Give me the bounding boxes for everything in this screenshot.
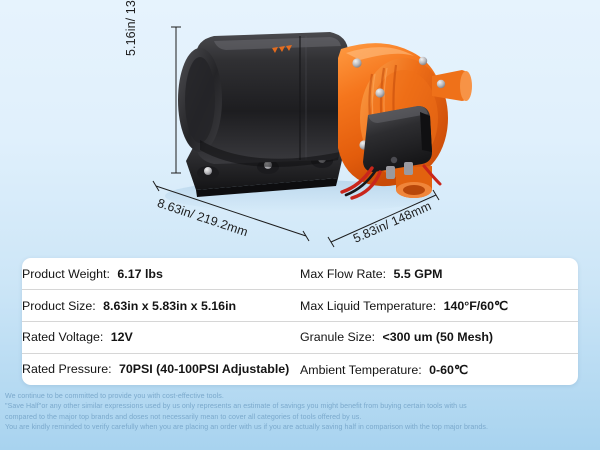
spec-cell-rated-pressure: Rated Pressure: 70PSI (40-100PSI Adjusta… xyxy=(22,353,300,385)
spec-value: <300 um (50 Mesh) xyxy=(383,330,494,344)
table-row: Product Weight: 6.17 lbs Max Flow Rate: … xyxy=(22,258,578,290)
product-illustration: 5.16in/ 131mm 8.63in/ 219.2mm 5.83in/ 14… xyxy=(0,0,600,258)
table-row: Product Size: 8.63in x 5.83in x 5.16in M… xyxy=(22,290,578,322)
table-row: Rated Voltage: 12V Granule Size: <300 um… xyxy=(22,322,578,354)
spec-label: Max Liquid Temperature: xyxy=(300,299,436,313)
spec-label: Ambient Temperature: xyxy=(300,363,422,377)
spec-label: Rated Voltage: xyxy=(22,330,103,344)
spec-label: Product Weight: xyxy=(22,267,110,281)
spec-cell-product-weight: Product Weight: 6.17 lbs xyxy=(22,258,300,290)
disclaimer-line-2: "Save Half"or any other similar expressi… xyxy=(5,401,597,411)
spec-cell-max-liquid-temperature: Max Liquid Temperature: 140°F/60℃ xyxy=(300,290,578,322)
spec-value: 0-60℃ xyxy=(429,363,468,377)
spec-cell-max-flow-rate: Max Flow Rate: 5.5 GPM xyxy=(300,258,578,290)
spec-label: Max Flow Rate: xyxy=(300,267,386,281)
spec-label: Rated Pressure: xyxy=(22,362,112,376)
head-screw xyxy=(375,88,384,97)
head-screw xyxy=(437,80,445,88)
head-screw xyxy=(419,57,427,65)
spec-cell-product-size: Product Size: 8.63in x 5.83in x 5.16in xyxy=(22,290,300,322)
pump-motor-body xyxy=(178,32,348,167)
spec-cell-granule-size: Granule Size: <300 um (50 Mesh) xyxy=(300,322,578,354)
spec-cell-rated-voltage: Rated Voltage: 12V xyxy=(22,322,300,354)
disclaimer-line-1: We continue to be committed to provide y… xyxy=(5,391,597,401)
pump-image xyxy=(0,0,600,258)
specification-card: Product Weight: 6.17 lbs Max Flow Rate: … xyxy=(22,258,578,385)
spec-value: 12V xyxy=(111,330,133,344)
pressure-switch-cover xyxy=(363,106,432,172)
spec-value: 70PSI (40-100PSI Adjustable) xyxy=(119,362,289,376)
disclaimer-line-4: You are kindly reminded to verify carefu… xyxy=(5,422,597,432)
spec-cell-ambient-temperature: Ambient Temperature: 0-60℃ xyxy=(300,353,578,385)
spec-value: 6.17 lbs xyxy=(117,267,162,281)
spec-label: Granule Size: xyxy=(300,330,375,344)
disclaimer-line-3: compared to the major top brands and dos… xyxy=(5,412,597,422)
disclaimer-text: We continue to be committed to provide y… xyxy=(5,391,597,433)
spec-value: 140°F/60℃ xyxy=(444,299,508,313)
table-row: Rated Pressure: 70PSI (40-100PSI Adjusta… xyxy=(22,353,578,385)
head-screw xyxy=(352,58,361,67)
specification-table: Product Weight: 6.17 lbs Max Flow Rate: … xyxy=(22,258,578,385)
dimension-label-height: 5.16in/ 131mm xyxy=(124,0,138,56)
spec-label: Product Size: xyxy=(22,299,96,313)
spec-value: 8.63in x 5.83in x 5.16in xyxy=(103,299,236,313)
spec-value: 5.5 GPM xyxy=(394,267,443,281)
